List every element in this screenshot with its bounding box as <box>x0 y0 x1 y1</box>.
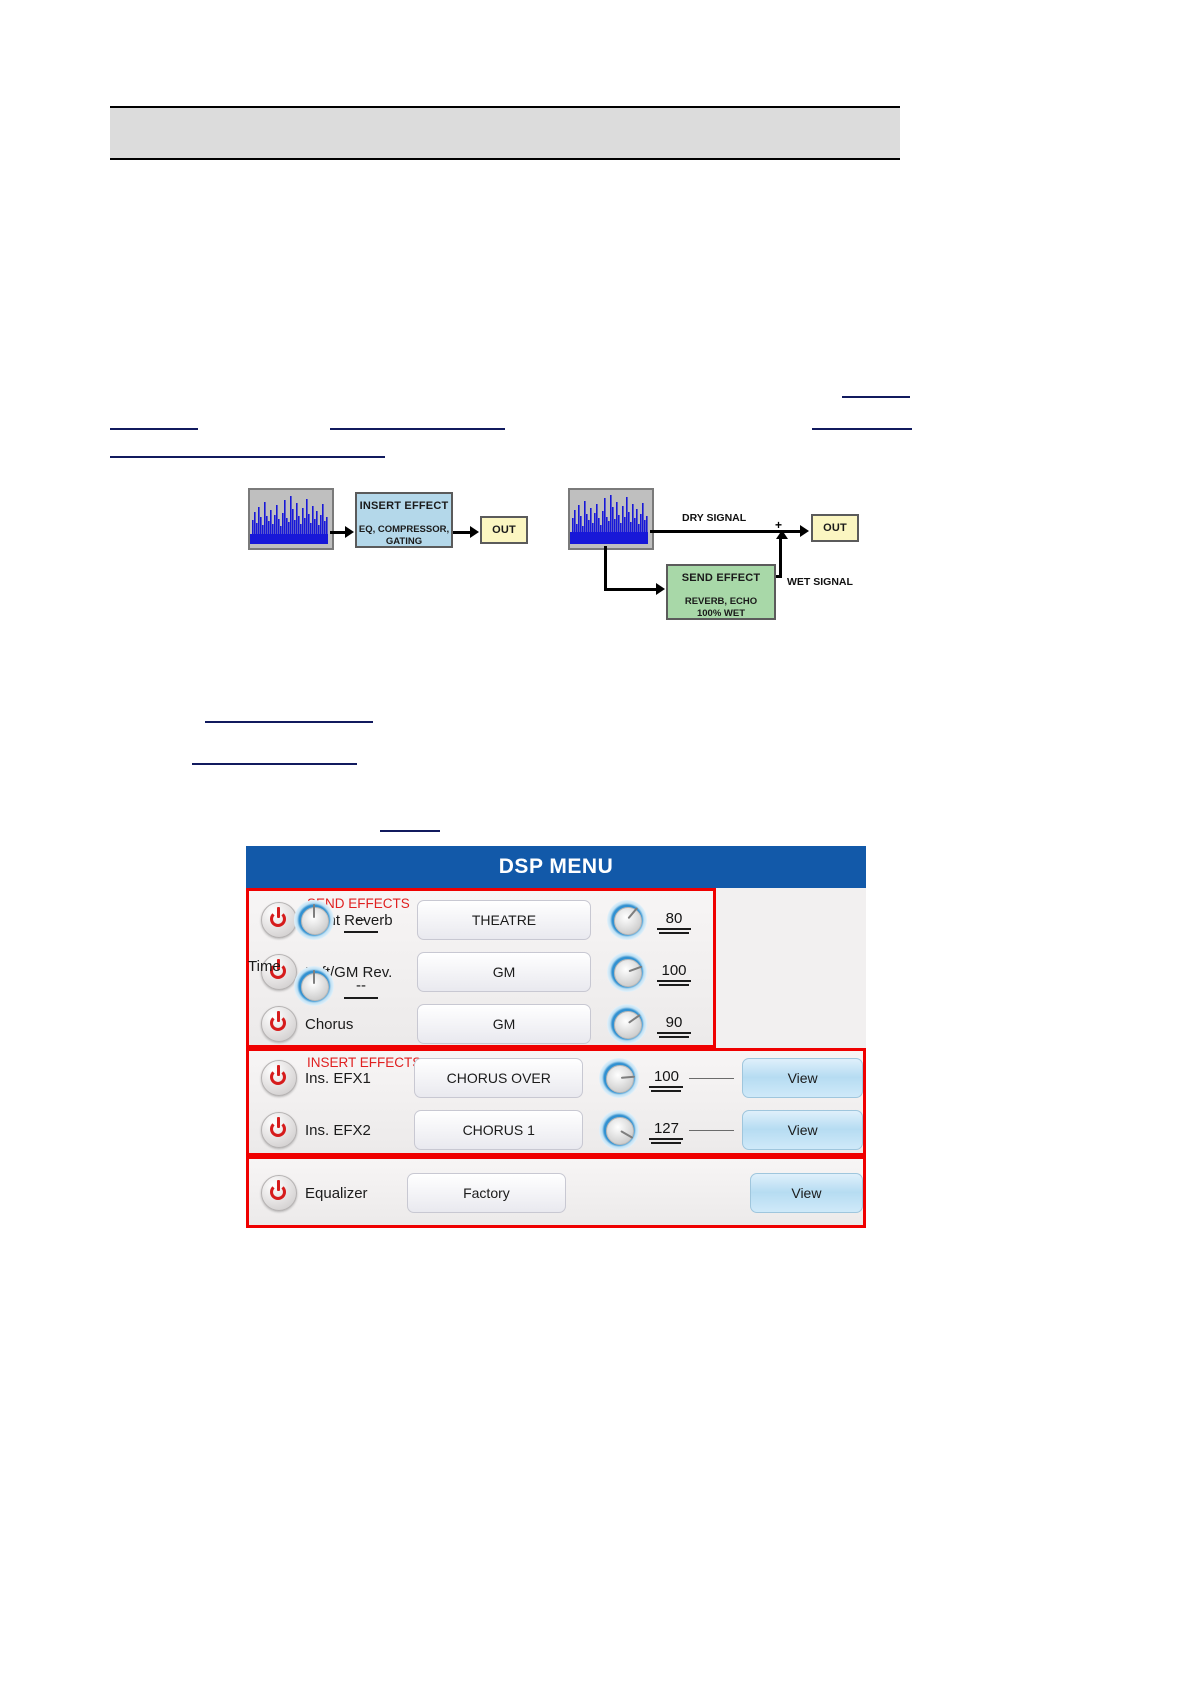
insert-out-label: OUT <box>492 524 516 536</box>
insert-effect-box: INSERT EFFECT EQ, COMPRESSOR, GATING <box>355 492 453 548</box>
send-waveform-thumbnail <box>568 488 654 550</box>
power-icon-ins-efx2[interactable] <box>261 1112 297 1148</box>
equalizer-row[interactable]: Equalizer Factory View <box>249 1167 863 1219</box>
text-underline-5 <box>110 456 385 458</box>
time-row-2[interactable]: -- <box>294 966 378 1006</box>
text-underline-4 <box>812 428 912 430</box>
power-icon-right-reverb[interactable] <box>261 902 297 938</box>
text-underline-7 <box>192 763 357 765</box>
equalizer-preset[interactable]: Factory <box>407 1173 566 1213</box>
power-icon-ins-efx1[interactable] <box>261 1060 297 1096</box>
send-out-label: OUT <box>823 522 847 534</box>
insert-connector-efx2 <box>689 1130 734 1131</box>
insert-level-knob-efx2[interactable] <box>599 1110 639 1150</box>
insert-out-box: OUT <box>480 516 528 544</box>
text-underline-8 <box>380 830 440 832</box>
insert-preset-efx2[interactable]: CHORUS 1 <box>414 1110 583 1150</box>
view-button-equalizer[interactable]: View <box>750 1173 863 1213</box>
insert-arrowhead-2 <box>470 526 479 538</box>
insert-row-efx1[interactable]: Ins. EFX1 CHORUS OVER 100 View <box>249 1052 863 1104</box>
equalizer-group: Equalizer Factory View <box>246 1156 866 1228</box>
equalizer-row-label: Equalizer <box>305 1185 407 1202</box>
time-row-1[interactable]: -- <box>294 900 378 940</box>
text-underline-2 <box>110 428 198 430</box>
knob-inner <box>606 1065 634 1093</box>
insert-effect-box-subtitle-1: EQ, COMPRESSOR, <box>357 524 451 536</box>
time-knob-1[interactable] <box>294 900 334 940</box>
dsp-menu-title: DSP MENU <box>246 846 866 888</box>
knob-pointer <box>313 970 315 984</box>
knob-inner <box>614 907 642 935</box>
send-level-value-right-reverb: 80 <box>657 910 691 930</box>
view-button-efx1[interactable]: View <box>742 1058 863 1098</box>
insert-effect-diagram: INSERT EFFECT EQ, COMPRESSOR, GATING OUT <box>248 486 538 556</box>
send-effect-box-subtitle-2: 100% WET <box>668 608 774 620</box>
send-branch-arrowhead <box>656 583 665 595</box>
send-effect-box-title: SEND EFFECT <box>668 572 774 584</box>
wet-return-vertical <box>779 538 782 578</box>
power-icon-chorus[interactable] <box>261 1006 297 1042</box>
insert-level-value-efx2: 127 <box>649 1120 683 1140</box>
send-level-knob-right-reverb[interactable] <box>607 900 647 940</box>
insert-row-label-efx1: Ins. EFX1 <box>305 1070 414 1087</box>
insert-arrow-line-1 <box>330 531 346 534</box>
time-value-2: -- <box>344 977 378 995</box>
insert-arrow-line-2 <box>453 531 471 534</box>
send-level-value-left-gm-rev: 100 <box>657 962 691 982</box>
knob-inner <box>301 907 329 935</box>
insert-waveform-thumbnail <box>248 488 334 550</box>
insert-effect-box-title: INSERT EFFECT <box>357 500 451 512</box>
send-preset-right-reverb[interactable]: THEATRE <box>417 900 591 940</box>
dry-signal-arrowhead <box>800 525 809 537</box>
time-value-1: -- <box>344 911 378 929</box>
time-label: Time <box>248 958 281 975</box>
dsp-menu-body: SEND EFFECTS Right Reverb THEATRE 80 Lef… <box>246 888 866 1228</box>
text-underline-1 <box>842 396 910 398</box>
knob-inner <box>614 959 642 987</box>
send-preset-chorus[interactable]: GM <box>417 1004 591 1044</box>
insert-effect-box-subtitle-2: GATING <box>357 536 451 548</box>
page-header-text <box>110 108 900 140</box>
page-header-band <box>110 106 900 160</box>
text-underline-3 <box>330 428 505 430</box>
audio-waveform-icon <box>250 490 328 544</box>
insert-preset-efx1[interactable]: CHORUS OVER <box>414 1058 583 1098</box>
insert-row-efx2[interactable]: Ins. EFX2 CHORUS 1 127 View <box>249 1104 863 1156</box>
send-effect-diagram: DRY SIGNAL + SEND EFFECT REVERB, ECHO 10… <box>568 486 898 631</box>
send-out-box: OUT <box>811 514 859 542</box>
send-level-value-chorus: 90 <box>657 1014 691 1034</box>
knob-pointer <box>313 904 315 918</box>
send-effect-box: SEND EFFECT REVERB, ECHO 100% WET <box>666 564 776 620</box>
send-row-label-chorus: Chorus <box>305 1016 417 1033</box>
send-preset-left-gm-rev[interactable]: GM <box>417 952 591 992</box>
send-level-knob-left-gm-rev[interactable] <box>607 952 647 992</box>
send-effect-box-subtitle-1: REVERB, ECHO <box>668 596 774 608</box>
audio-waveform-icon <box>570 490 648 544</box>
send-branch-horizontal <box>604 588 658 591</box>
dsp-menu-panel: DSP MENU SEND EFFECTS Right Reverb THEAT… <box>246 846 866 1228</box>
view-button-efx2[interactable]: View <box>742 1110 863 1150</box>
text-underline-6 <box>205 721 373 723</box>
insert-effects-group: INSERT EFFECTS Ins. EFX1 CHORUS OVER 100… <box>246 1048 866 1156</box>
wet-signal-label: WET SIGNAL <box>787 576 853 588</box>
dry-signal-label: DRY SIGNAL <box>682 512 746 524</box>
insert-level-knob-efx1[interactable] <box>599 1058 639 1098</box>
wet-return-arrowhead <box>776 530 788 539</box>
send-branch-vertical <box>604 546 607 591</box>
knob-inner <box>301 973 329 1001</box>
send-level-knob-chorus[interactable] <box>607 1004 647 1044</box>
insert-connector-efx1 <box>689 1078 734 1079</box>
time-knob-2[interactable] <box>294 966 334 1006</box>
insert-level-value-efx1: 100 <box>649 1068 683 1088</box>
insert-arrowhead-1 <box>345 526 354 538</box>
power-icon-equalizer[interactable] <box>261 1175 297 1211</box>
insert-row-label-efx2: Ins. EFX2 <box>305 1122 414 1139</box>
